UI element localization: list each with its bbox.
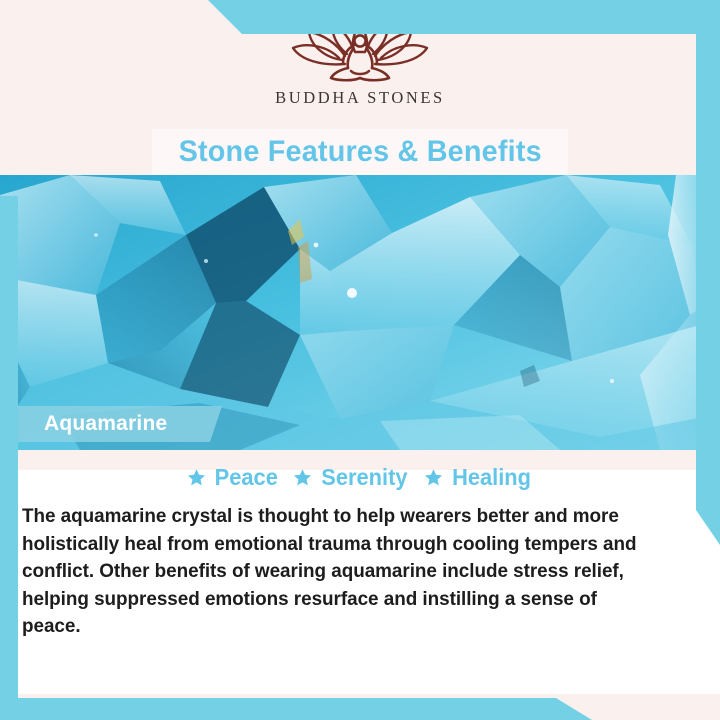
frame-left-accent [0,196,18,720]
benefit-item-serenity: Serenity [293,464,410,491]
frame-bottom-accent [0,698,600,720]
benefit-item-peace: Peace [187,464,280,491]
frame-right-accent [696,0,720,545]
star-icon [187,468,206,487]
page-title-band: Stone Features & Benefits [152,129,568,175]
benefit-label: Healing [452,464,531,491]
brand-name: BUDDHA STONES [275,88,445,108]
star-icon [424,468,443,487]
benefits-row: Peace Serenity Healing [0,460,720,494]
stone-info-card: BUDDHA STONES Stone Features & Benefits … [0,0,720,720]
benefit-item-healing: Healing [424,464,533,491]
benefit-label: Peace [214,464,277,491]
star-icon [293,468,312,487]
stone-name-banner: Aquamarine [18,406,222,442]
benefit-label: Serenity [322,464,408,491]
page-title: Stone Features & Benefits [178,135,541,169]
stone-name-label: Aquamarine [44,412,167,436]
stone-description: The aquamarine crystal is thought to hel… [22,503,657,641]
